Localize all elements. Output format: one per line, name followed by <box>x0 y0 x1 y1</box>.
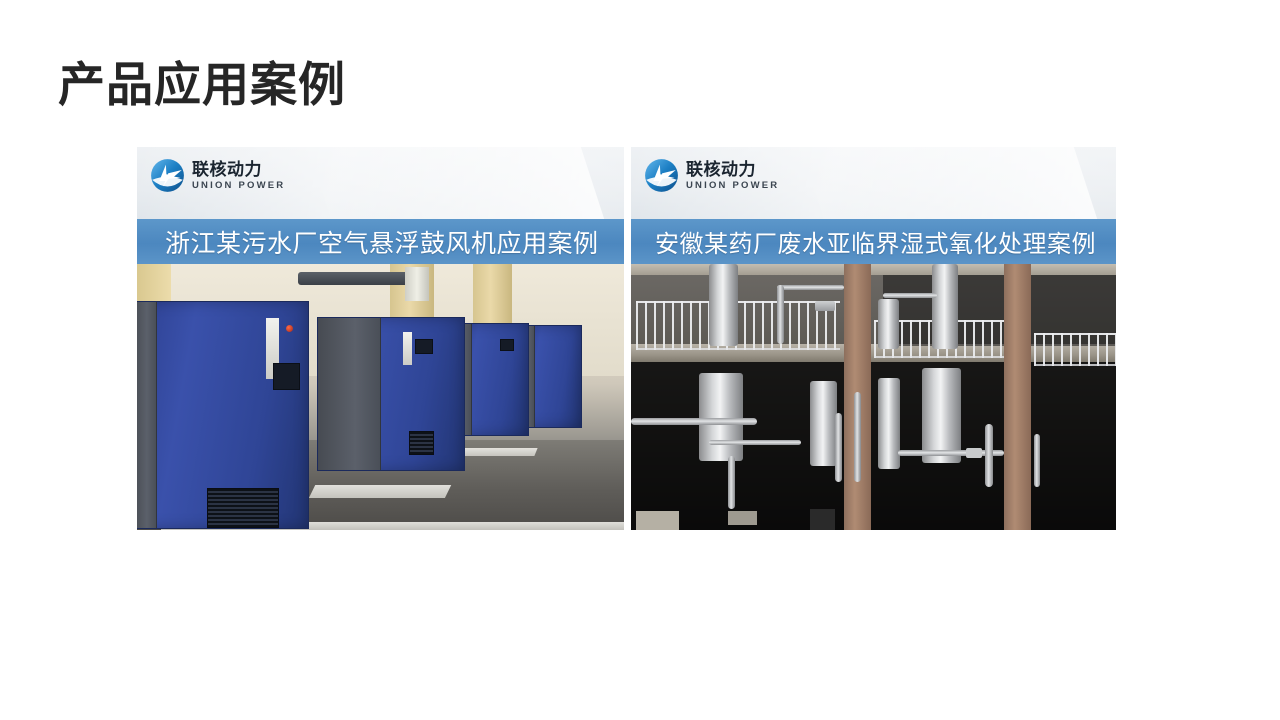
case-panel-left: 联核动力 UNION POWER 浙江某污水厂空气悬浮鼓风机应用案例 <box>137 147 624 530</box>
case-photo-block-right: 联核动力 UNION POWER 安徽某药厂废水亚临界湿式氧化处理案例 <box>631 147 1116 530</box>
brand-logo-left: 联核动力 UNION POWER <box>150 158 285 193</box>
brand-name-cn: 联核动力 <box>686 161 779 178</box>
brand-logo-right: 联核动力 UNION POWER <box>644 158 779 193</box>
brand-name-en: UNION POWER <box>686 181 779 191</box>
union-power-swoosh-icon <box>150 158 185 193</box>
case-photo-right <box>631 264 1116 530</box>
brand-name-cn: 联核动力 <box>192 161 285 178</box>
case-photo-left <box>137 264 624 530</box>
case-caption-right: 安徽某药厂废水亚临界湿式氧化处理案例 <box>631 224 1096 259</box>
slide-bottom-crop <box>0 670 1280 720</box>
union-power-swoosh-icon <box>644 158 679 193</box>
case-caption-left: 浙江某污水厂空气悬浮鼓风机应用案例 <box>137 224 599 260</box>
page-title: 产品应用案例 <box>58 58 346 112</box>
brand-logo-text: 联核动力 UNION POWER <box>192 161 285 191</box>
case-panel-right: 联核动力 UNION POWER 安徽某药厂废水亚临界湿式氧化处理案例 <box>631 147 1116 530</box>
case-caption-bar-right: 安徽某药厂废水亚临界湿式氧化处理案例 <box>631 219 1116 264</box>
brand-name-en: UNION POWER <box>192 181 285 191</box>
case-photo-block-left: 联核动力 UNION POWER 浙江某污水厂空气悬浮鼓风机应用案例 <box>137 147 624 530</box>
brand-logo-text: 联核动力 UNION POWER <box>686 161 779 191</box>
case-caption-bar-left: 浙江某污水厂空气悬浮鼓风机应用案例 <box>137 219 624 264</box>
